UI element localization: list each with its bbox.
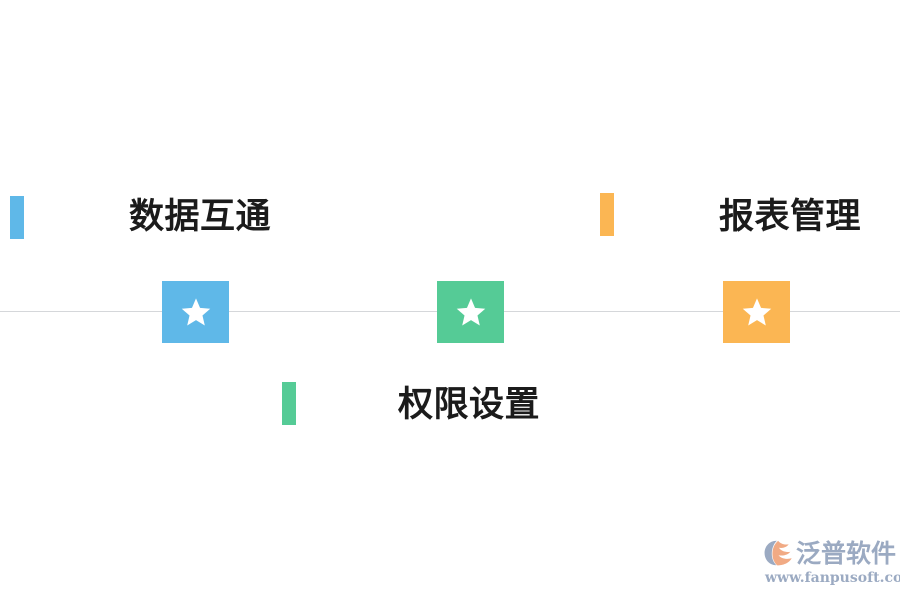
accent-bar-green — [282, 382, 296, 425]
star-icon — [181, 297, 211, 327]
star-icon — [742, 297, 772, 327]
diagram-canvas: 数据互通 权限设置 报表管理 — [0, 0, 900, 600]
node-label-data-interop: 数据互通 — [129, 200, 271, 235]
watermark: 泛普软件 www.fanpusoft.com — [764, 537, 894, 587]
fanpu-logo-icon — [764, 539, 794, 567]
watermark-url: www.fanpusoft.com — [765, 571, 894, 585]
milestone-node-report-management[interactable] — [723, 281, 790, 343]
node-label-permission-settings: 权限设置 — [398, 388, 540, 423]
accent-bar-blue — [10, 196, 24, 239]
watermark-brand-row: 泛普软件 — [764, 537, 894, 569]
milestone-node-data-interop[interactable] — [162, 281, 229, 343]
node-label-report-management: 报表管理 — [719, 200, 861, 235]
star-icon — [456, 297, 486, 327]
milestone-node-permission-settings[interactable] — [437, 281, 504, 343]
accent-bar-orange — [600, 193, 614, 236]
watermark-brand-name: 泛普软件 — [796, 541, 896, 566]
